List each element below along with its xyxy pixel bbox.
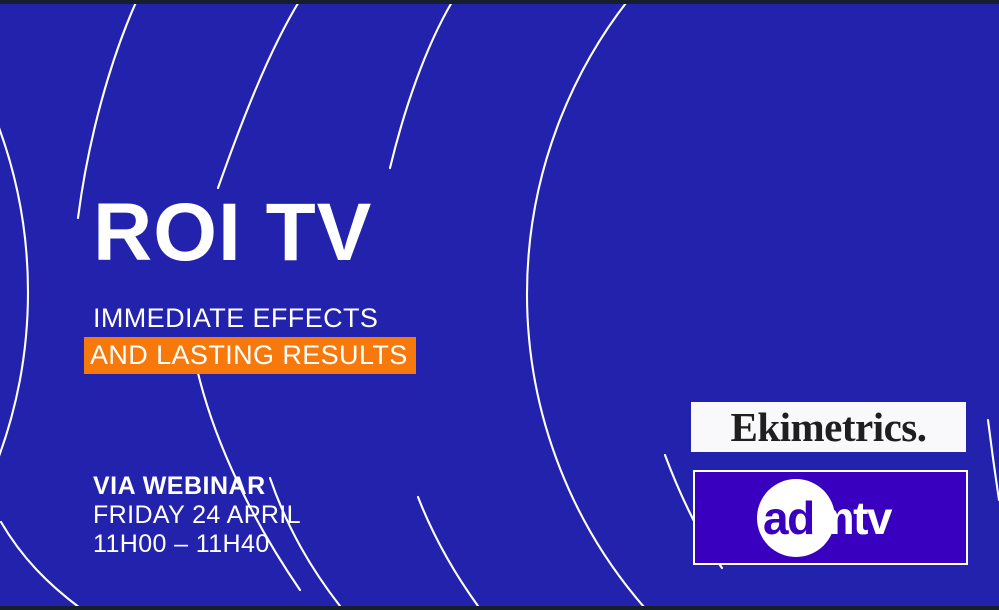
top-edge-strip [0, 0, 999, 4]
details-heading: VIA WEBINAR [93, 472, 301, 501]
bottom-edge-strip [0, 606, 999, 610]
details-time: 11H00 – 11H40 [93, 530, 301, 559]
details-date: FRIDAY 24 APRIL [93, 501, 301, 530]
admtv-wordmark-ad: ad [763, 492, 814, 544]
subtitle-highlight: AND LASTING RESULTS [84, 337, 416, 374]
ekimetrics-logo: Ekimetrics. [691, 402, 966, 452]
page-title: ROI TV [93, 192, 372, 274]
admtv-logo: admtv [693, 470, 968, 565]
admtv-wordmark: admtv [763, 495, 891, 541]
subtitle-line-1: IMMEDIATE EFFECTS [93, 303, 416, 334]
webinar-promo-slide: ROI TV IMMEDIATE EFFECTS AND LASTING RES… [0, 0, 999, 610]
webinar-details: VIA WEBINAR FRIDAY 24 APRIL 11H00 – 11H4… [93, 472, 301, 559]
admtv-wordmark-mtv: mtv [814, 492, 891, 544]
subtitle-block: IMMEDIATE EFFECTS AND LASTING RESULTS [93, 303, 416, 374]
subtitle-line-2: AND LASTING RESULTS [90, 341, 408, 369]
ekimetrics-wordmark: Ekimetrics. [730, 407, 926, 448]
